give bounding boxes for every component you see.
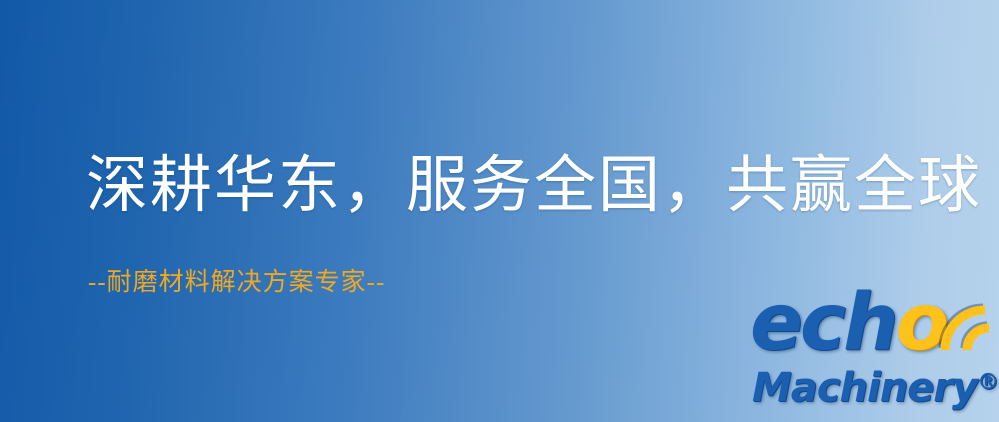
banner-headline: 深耕华东，服务全国，共赢全球 xyxy=(86,152,982,220)
banner-subtitle: --耐磨材料解决方案专家-- xyxy=(88,268,385,298)
registered-trademark-icon: ® xyxy=(977,370,999,395)
logo-wordmark: echo xyxy=(750,284,946,362)
company-logo[interactable]: echo Machinery® xyxy=(744,296,999,422)
signal-waves-icon xyxy=(937,292,999,354)
hero-banner: 深耕华东，服务全国，共赢全球 --耐磨材料解决方案专家-- echo Machi… xyxy=(0,0,999,422)
logo-subtitle-text: Machinery xyxy=(752,365,977,411)
logo-subtitle: Machinery® xyxy=(752,368,999,408)
logo-mark: echo xyxy=(744,296,999,376)
logo-wordmark-prefix: ech xyxy=(750,278,896,368)
